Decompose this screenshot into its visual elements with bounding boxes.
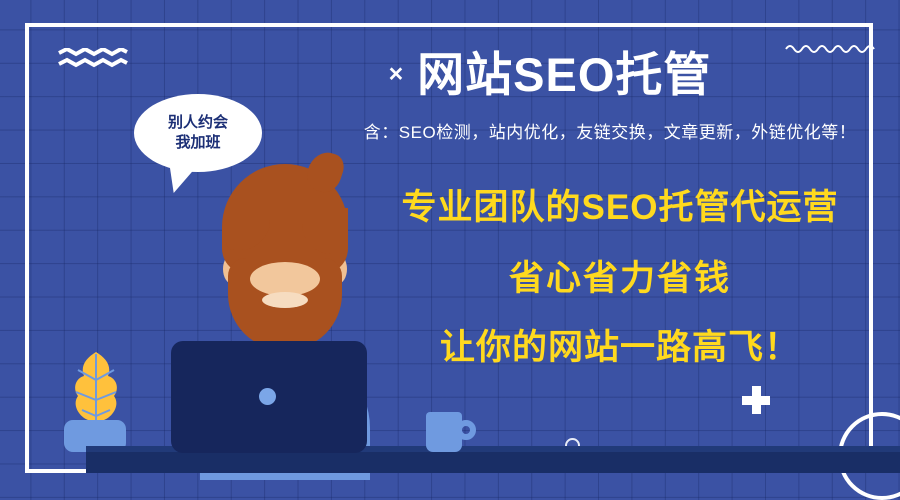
person-mouth bbox=[262, 292, 308, 308]
pitch-line-3: 让你的网站一路高飞！ bbox=[360, 330, 880, 365]
desk-surface bbox=[86, 452, 900, 473]
laptop-logo-icon bbox=[259, 388, 276, 405]
speech-bubble-line-1: 别人约会 bbox=[168, 113, 228, 133]
frame-top-border bbox=[25, 23, 873, 27]
coffee-mug-icon bbox=[426, 412, 462, 452]
pitch-line-2: 省心省力省钱 bbox=[360, 261, 880, 296]
page-title: 网站SEO托管 bbox=[417, 51, 711, 98]
double-wave-icon bbox=[58, 48, 128, 70]
banner-subtitle: 含：SEO检测，站内优化，友链交换，文章更新，外链优化等！ bbox=[340, 118, 880, 143]
plus-icon bbox=[742, 386, 770, 414]
person-chin bbox=[250, 262, 320, 296]
frame-left-border bbox=[25, 23, 29, 473]
seo-banner: × 网站SEO托管 含：SEO检测，站内优化，友链交换，文章更新，外链优化等！ … bbox=[0, 0, 900, 500]
banner-title-row: × 网站SEO托管 bbox=[340, 46, 760, 102]
potted-plant-icon bbox=[66, 350, 126, 430]
title-cross-icon: × bbox=[389, 62, 404, 87]
pitch-line-1: 专业团队的SEO托管代运营 bbox=[360, 190, 880, 225]
pitch-block: 专业团队的SEO托管代运营 省心省力省钱 让你的网站一路高飞！ bbox=[360, 190, 880, 365]
squiggle-wave-icon bbox=[785, 42, 875, 56]
